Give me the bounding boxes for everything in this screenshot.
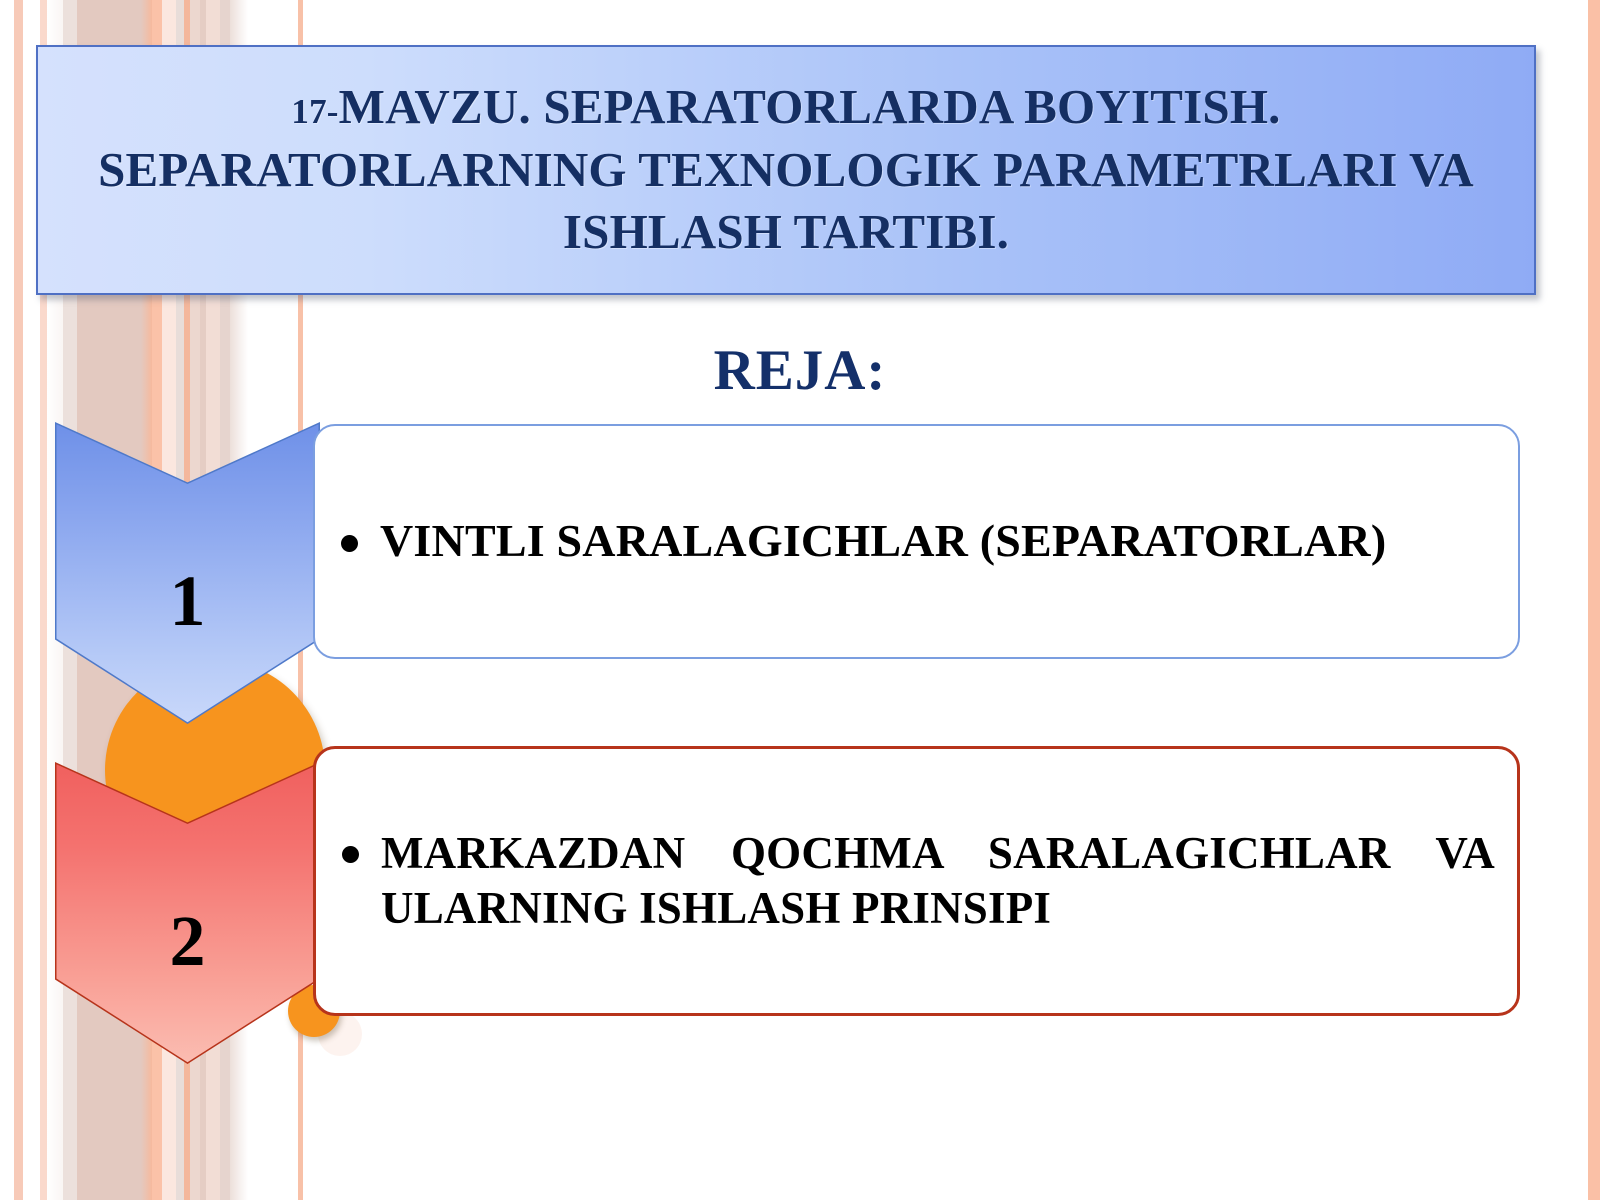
plan-item-1-row: VINTLI SARALAGICHLAR (SEPARATORLAR) xyxy=(315,513,1518,570)
step-marker-2: 2 xyxy=(55,762,320,1064)
presentation-slide: 17-MAVZU. SEPARATORLARDA BOYITISH. SEPAR… xyxy=(0,0,1600,1200)
slide-title-prefix: 17- xyxy=(291,92,338,131)
section-heading: REJA: xyxy=(0,338,1600,403)
bullet-icon xyxy=(341,535,358,552)
step-marker-1: 1 xyxy=(55,422,320,724)
bullet-icon xyxy=(342,846,359,863)
right-decorative-stripe xyxy=(1588,0,1600,1200)
plan-item-2-text: MARKAZDAN QOCHMA SARALAGICHLAR VA ULARNI… xyxy=(381,826,1495,937)
step-number-2: 2 xyxy=(170,900,206,983)
slide-title: 17-MAVZU. SEPARATORLARDA BOYITISH. SEPAR… xyxy=(38,76,1534,264)
plan-item-1-text: VINTLI SARALAGICHLAR (SEPARATORLAR) xyxy=(380,513,1496,570)
step-number-1: 1 xyxy=(170,560,206,643)
stripe-1 xyxy=(14,0,23,1200)
pale-circle-c xyxy=(318,1012,362,1056)
plan-item-2-row: MARKAZDAN QOCHMA SARALAGICHLAR VA ULARNI… xyxy=(316,826,1517,937)
slide-title-bar: 17-MAVZU. SEPARATORLARDA BOYITISH. SEPAR… xyxy=(36,45,1536,295)
plan-item-2[interactable]: MARKAZDAN QOCHMA SARALAGICHLAR VA ULARNI… xyxy=(313,746,1520,1016)
plan-item-1[interactable]: VINTLI SARALAGICHLAR (SEPARATORLAR) xyxy=(313,424,1520,659)
